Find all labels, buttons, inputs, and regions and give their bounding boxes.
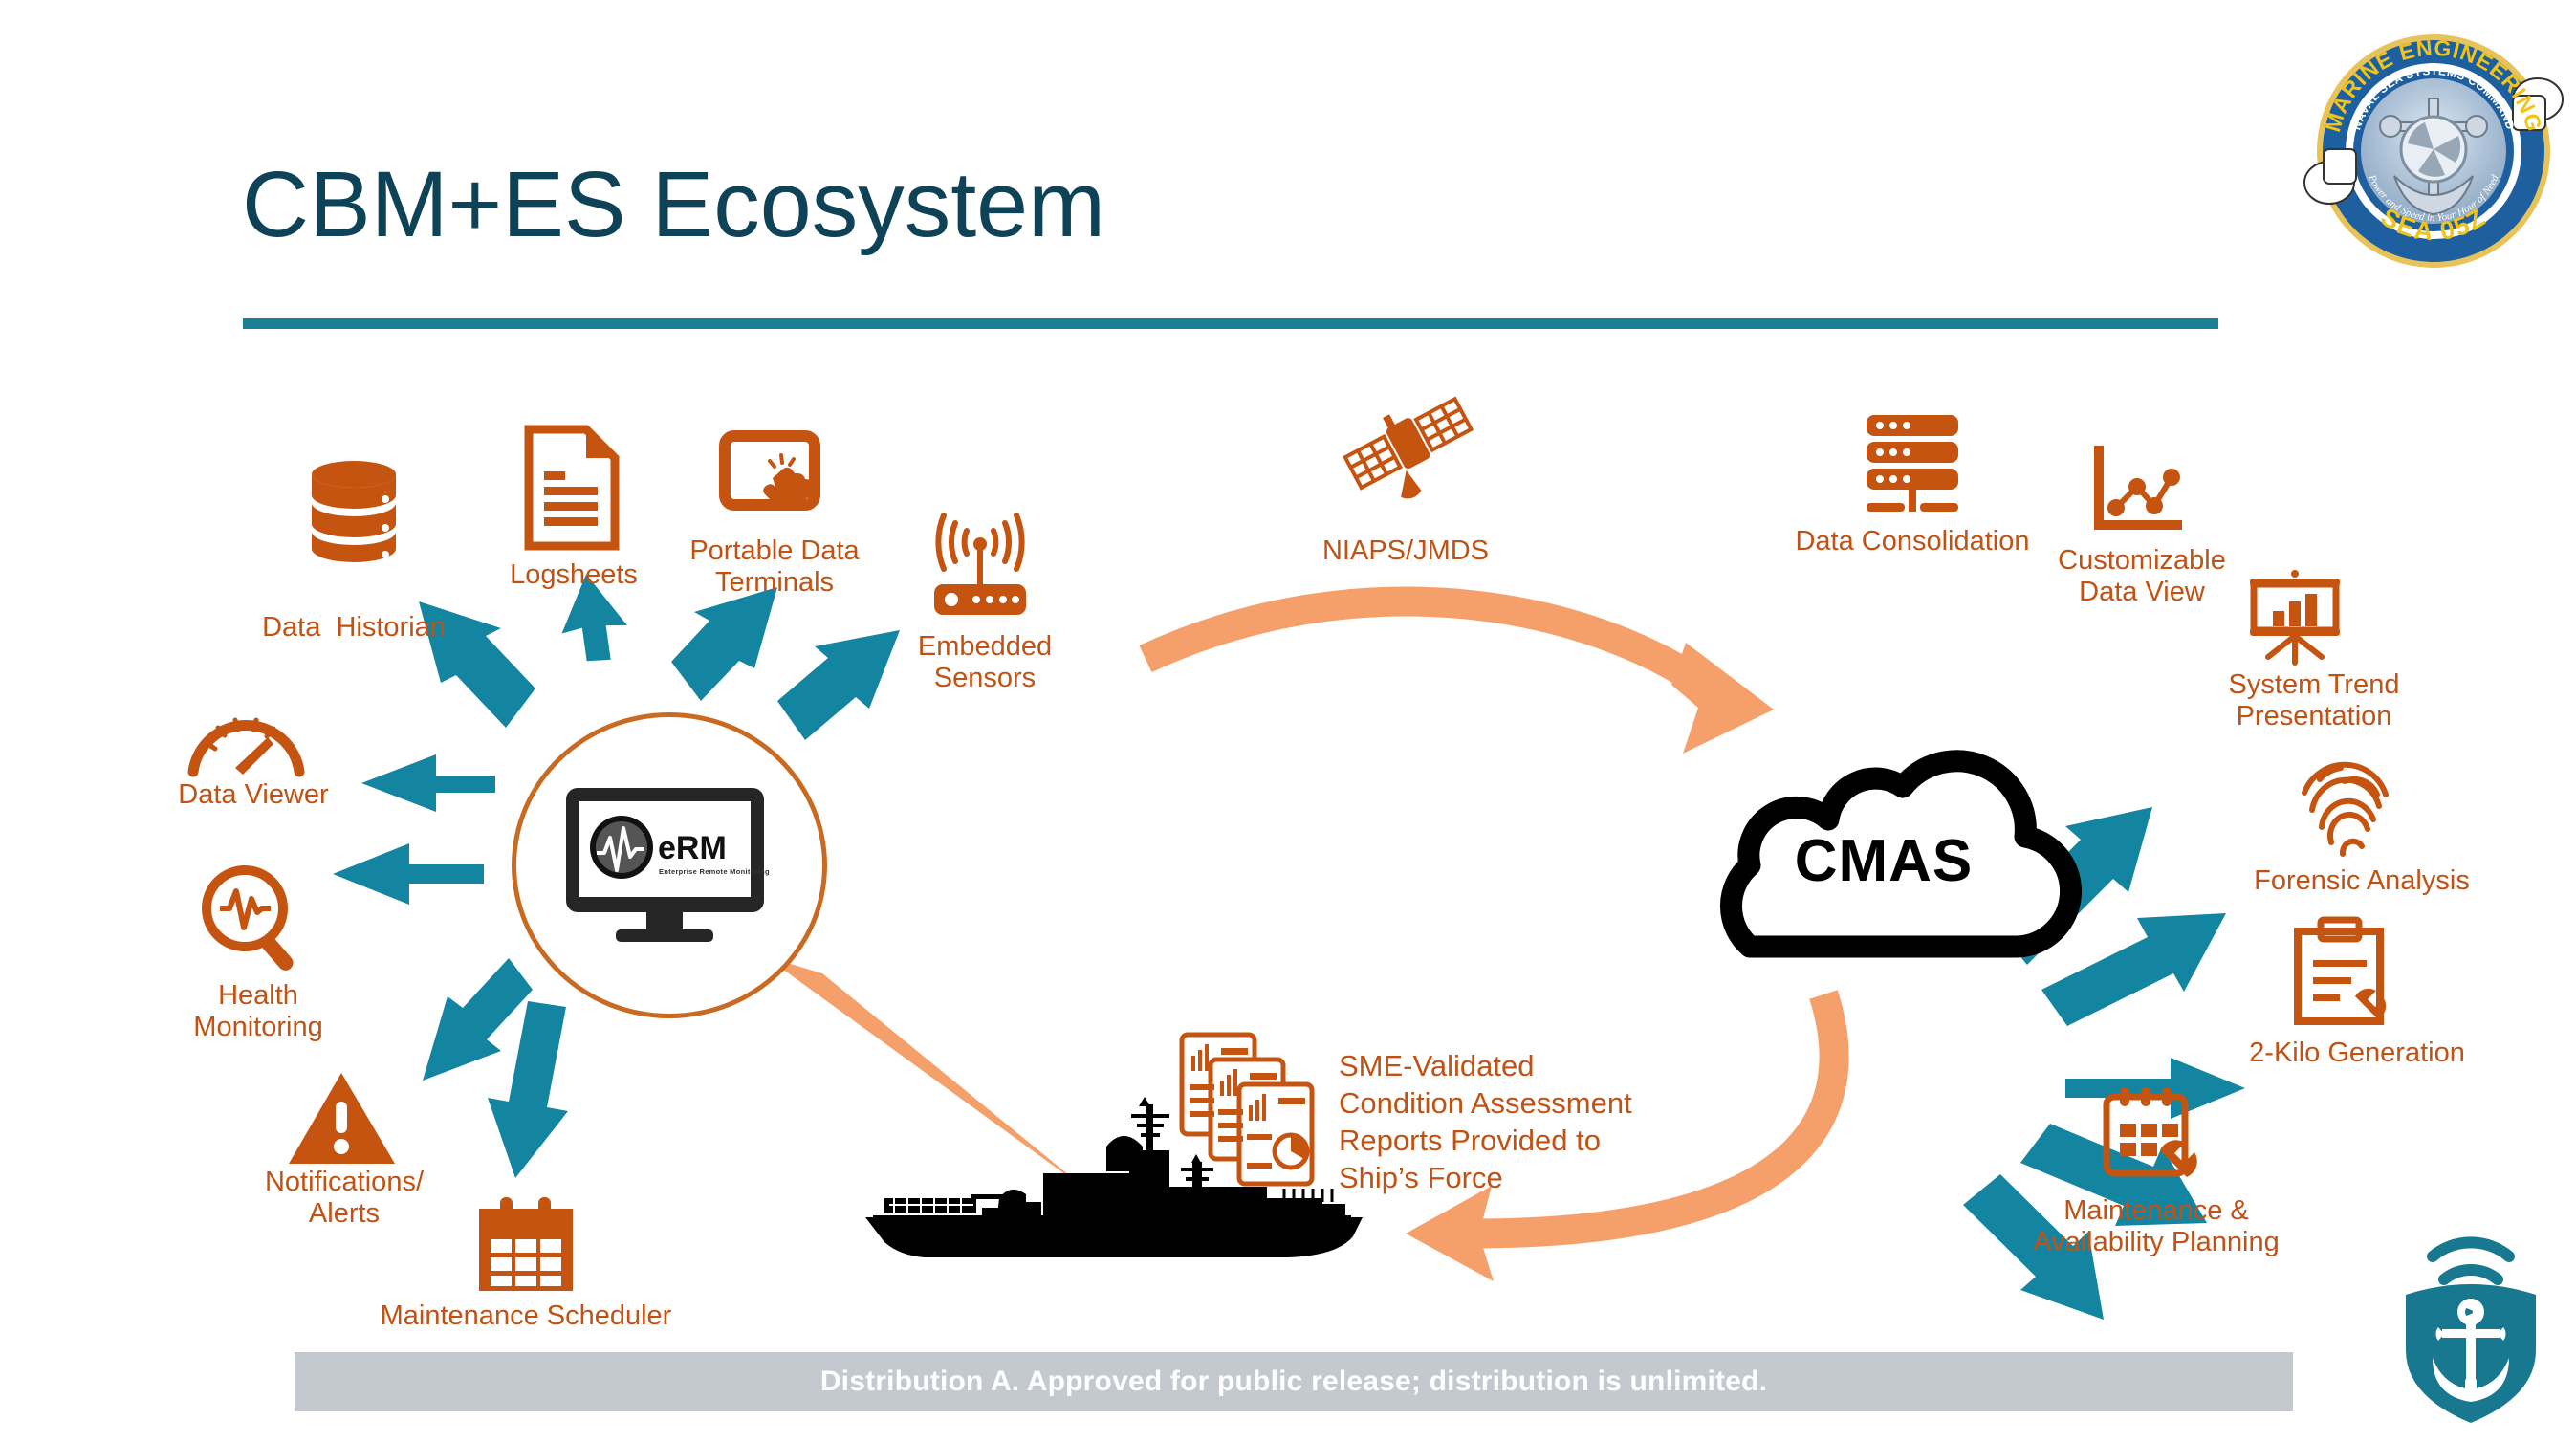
clipboard-wrench-icon bbox=[2290, 918, 2395, 1028]
cbm-shield-anchor-logo bbox=[2389, 1235, 2551, 1422]
distribution-banner-text: Distribution A. Approved for public rele… bbox=[820, 1366, 1767, 1398]
erm-logo-subtitle: Enterprise Remote Monitoring bbox=[659, 867, 770, 876]
fingerprint-icon bbox=[2295, 751, 2395, 861]
reports-line-2: Condition Assessment bbox=[1339, 1084, 1721, 1122]
gauge-icon bbox=[182, 693, 311, 779]
distribution-banner: Distribution A. Approved for public rele… bbox=[295, 1352, 2293, 1411]
label-embedded-sensors: Embedded Sensors bbox=[880, 631, 1090, 694]
server-stack-icon bbox=[1855, 411, 1970, 521]
label-data-historian: Data Historian bbox=[191, 612, 516, 644]
label-2-kilo-generation: 2-Kilo Generation bbox=[2190, 1038, 2524, 1069]
navy-ship-silhouette bbox=[856, 1095, 1363, 1272]
label-forensic-analysis: Forensic Analysis bbox=[2199, 865, 2524, 897]
cmas-label: CMAS bbox=[1692, 827, 2075, 895]
label-data-viewer: Data Viewer bbox=[124, 779, 382, 811]
magnifier-pulse-icon bbox=[191, 861, 311, 975]
warning-triangle-icon bbox=[287, 1071, 397, 1167]
label-system-trend-presentation: System Trend Presentation bbox=[2171, 669, 2457, 732]
erm-monitor-icon: eRM Enterprise Remote Monitoring bbox=[562, 784, 768, 951]
calendar-wrench-icon bbox=[2099, 1085, 2209, 1186]
label-health-monitoring: Health Monitoring bbox=[129, 980, 387, 1043]
erm-logo-text: eRM bbox=[658, 830, 727, 866]
satellite-icon bbox=[1339, 387, 1473, 502]
database-icon bbox=[287, 459, 421, 564]
arrow-erm-to-cmas bbox=[1146, 601, 1774, 754]
wireless-router-icon bbox=[923, 521, 1037, 626]
label-niaps-jmds: NIAPS/JMDS bbox=[1224, 535, 1587, 567]
reports-line-1: SME-Validated bbox=[1339, 1047, 1721, 1084]
calendar-icon bbox=[473, 1195, 579, 1296]
tablet-touch-icon bbox=[719, 430, 834, 531]
label-maintenance-availability-planning: Maintenance & Availability Planning bbox=[1984, 1195, 2328, 1258]
line-chart-icon bbox=[2089, 445, 2185, 540]
label-customizable-data-view: Customizable Data View bbox=[2013, 545, 2271, 608]
reports-line-4: Ship’s Force bbox=[1339, 1159, 1721, 1196]
presentation-chart-icon bbox=[2242, 569, 2347, 665]
reports-line-3: Reports Provided to bbox=[1339, 1122, 1721, 1159]
label-maintenance-scheduler: Maintenance Scheduler bbox=[316, 1300, 736, 1332]
label-portable-data-terminals: Portable Data Terminals bbox=[650, 535, 899, 599]
reports-caption: SME-Validated Condition Assessment Repor… bbox=[1339, 1047, 1721, 1196]
document-icon bbox=[521, 426, 622, 550]
label-notifications-alerts: Notifications/ Alerts bbox=[215, 1167, 473, 1230]
